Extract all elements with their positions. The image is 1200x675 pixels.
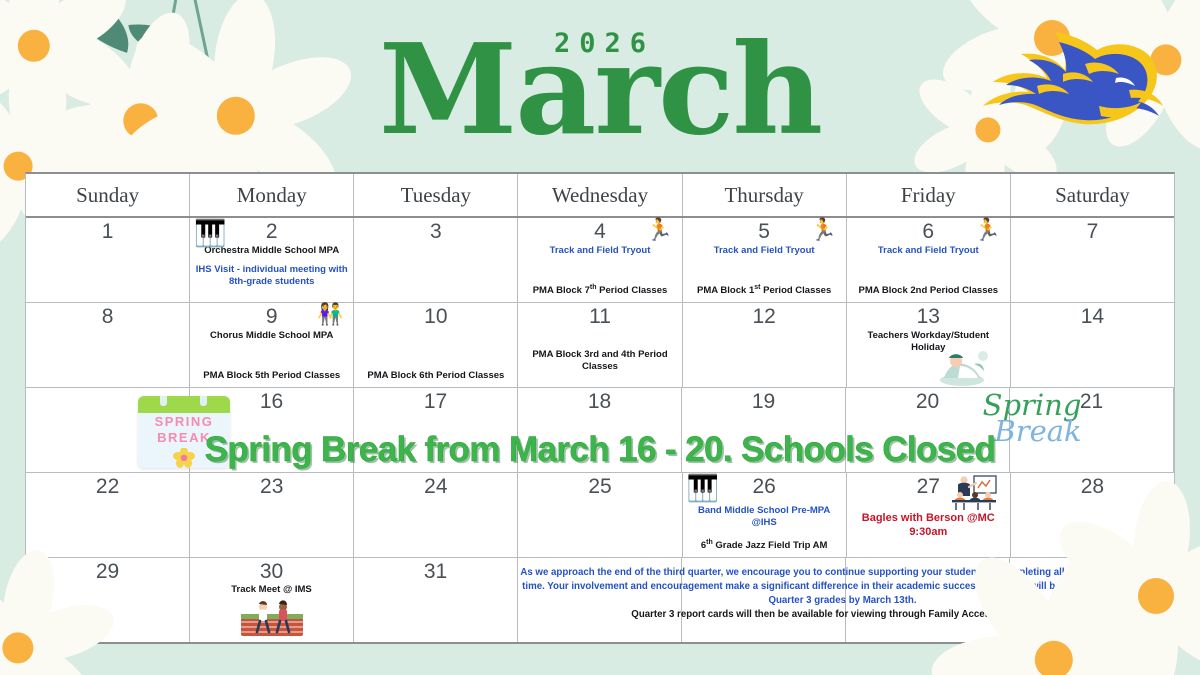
day-number: 2: [266, 221, 278, 243]
day-number: 29: [96, 561, 119, 583]
day-number: 24: [424, 476, 447, 498]
music-notes-icon: 🎹: [194, 220, 226, 246]
day-cell[interactable]: 1: [26, 218, 190, 302]
event-text-tail: Period Classes: [597, 285, 668, 296]
day-cell[interactable]: 25: [518, 473, 682, 557]
day-cell[interactable]: 28: [1011, 473, 1174, 557]
event-label: IHS Visit - individual meeting with 8th-…: [192, 264, 351, 288]
event-text-tail: Period Classes: [760, 285, 831, 296]
event-label: PMA Block 5th Period Classes: [190, 370, 353, 382]
dow-sunday: Sunday: [26, 174, 190, 216]
calendar-week-row: 8 👫 9 Chorus Middle School MPA PMA Block…: [26, 303, 1174, 388]
day-number: 11: [589, 306, 611, 328]
day-number: 1: [102, 221, 114, 243]
spring-break-card-line1: SPRING: [155, 415, 214, 430]
music-notes-icon: 🎹: [687, 475, 719, 501]
event-text-tail: Grade Jazz Field Trip AM: [713, 540, 828, 551]
day-cell[interactable]: 11 PMA Block 3rd and 4th Period Classes: [518, 303, 682, 387]
day-cell[interactable]: 🎹 2 Orchestra Middle School MPA IHS Visi…: [190, 218, 354, 302]
relaxing-person-icon: [934, 344, 988, 386]
calendar-week-row: 22 23 24 25 🎹 26 Band Middle School Pre-…: [26, 473, 1174, 558]
event-label: PMA Block 3rd and 4th Period Classes: [518, 349, 681, 373]
chorus-group-icon: 👫: [317, 304, 347, 334]
dow-wednesday: Wednesday: [518, 174, 682, 216]
day-cell[interactable]: 3: [354, 218, 518, 302]
day-number: 19: [752, 391, 775, 413]
runner-icon: 🏃: [810, 219, 840, 249]
event-label: PMA Block 7th Period Classes: [518, 284, 681, 297]
eagle-mascot-logo: [959, 18, 1174, 153]
day-cell[interactable]: 24: [354, 473, 518, 557]
day-number: 7: [1087, 221, 1099, 243]
day-cell[interactable]: 10 PMA Block 6th Period Classes: [354, 303, 518, 387]
day-cell[interactable]: 🏃 5 Track and Field Tryout PMA Block 1st…: [683, 218, 847, 302]
day-number: 25: [588, 476, 611, 498]
day-cell[interactable]: 14: [1011, 303, 1174, 387]
day-cell[interactable]: 8: [26, 303, 190, 387]
event-label: Track Meet @ IMS: [192, 584, 351, 596]
day-number: 13: [917, 306, 940, 328]
runner-icon: 🏃: [646, 219, 676, 249]
note-paragraph-blue: As we approach the end of the third quar…: [520, 567, 1164, 606]
day-number: 26: [752, 476, 775, 498]
day-number: 18: [588, 391, 611, 413]
calendar-week-row: 29 30 Track Meet @ IMS: [26, 558, 1174, 642]
event-label: PMA Block 2nd Period Classes: [847, 285, 1010, 297]
day-cell[interactable]: 27 Bagles with Berson @MC 9:30am: [847, 473, 1011, 557]
day-cell[interactable]: 23: [190, 473, 354, 557]
spring-break-banner: Spring Break from March 16 - 20. Schools…: [26, 430, 1174, 470]
day-number: 10: [424, 306, 447, 328]
note-paragraph-black: Quarter 3 report cards will then be avai…: [519, 608, 1166, 622]
day-of-week-header-row: Sunday Monday Tuesday Wednesday Thursday…: [26, 174, 1174, 218]
day-number: 20: [916, 391, 939, 413]
event-label: Band Middle School Pre-MPA @IHS: [685, 505, 844, 529]
day-number: 9: [266, 306, 278, 328]
day-number: 21: [1080, 391, 1103, 413]
day-number: 3: [430, 221, 442, 243]
day-cell[interactable]: 13 Teachers Workday/Student Holiday: [847, 303, 1011, 387]
ordinal-suffix: th: [706, 539, 713, 546]
day-cell[interactable]: 30 Track Meet @ IMS: [190, 558, 354, 642]
event-label: 6th Grade Jazz Field Trip AM: [683, 539, 846, 552]
calendar-grid: Sunday Monday Tuesday Wednesday Thursday…: [25, 172, 1175, 644]
track-runners-icon: [239, 598, 305, 638]
day-number: 14: [1081, 306, 1104, 328]
calendar-week-row-spring-break: 16 17 18 19 20 21 SPRING BREAK: [26, 388, 1174, 473]
day-number: 23: [260, 476, 283, 498]
day-number: 4: [594, 221, 606, 243]
day-number: 17: [424, 391, 447, 413]
dow-saturday: Saturday: [1011, 174, 1174, 216]
day-cell[interactable]: 22: [26, 473, 190, 557]
ordinal-suffix: th: [590, 284, 597, 291]
presentation-meeting-icon: [948, 474, 1000, 512]
day-number: 8: [102, 306, 114, 328]
day-cell[interactable]: 🎹 26 Band Middle School Pre-MPA @IHS 6th…: [683, 473, 847, 557]
day-number: 22: [96, 476, 119, 498]
day-number: 16: [260, 391, 283, 413]
day-cell[interactable]: 29: [26, 558, 190, 642]
day-number: 28: [1081, 476, 1104, 498]
dow-monday: Monday: [190, 174, 354, 216]
day-number: 27: [917, 476, 940, 498]
day-number: 12: [752, 306, 775, 328]
dow-tuesday: Tuesday: [354, 174, 518, 216]
dow-thursday: Thursday: [683, 174, 847, 216]
event-label: Bagles with Berson @MC 9:30am: [849, 512, 1008, 540]
event-label: PMA Block 1st Period Classes: [683, 284, 846, 297]
runner-icon: 🏃: [974, 219, 1004, 249]
day-cell[interactable]: 31: [354, 558, 518, 642]
event-text-base: PMA Block 1: [697, 285, 754, 296]
calendar-week-row: 1 🎹 2 Orchestra Middle School MPA IHS Vi…: [26, 218, 1174, 303]
dow-friday: Friday: [847, 174, 1011, 216]
day-cell[interactable]: 12: [683, 303, 847, 387]
day-cell[interactable]: 👫 9 Chorus Middle School MPA PMA Block 5…: [190, 303, 354, 387]
event-text-base: PMA Block 7: [533, 285, 590, 296]
day-number: 5: [758, 221, 770, 243]
day-cell[interactable]: 🏃 4 Track and Field Tryout PMA Block 7th…: [518, 218, 682, 302]
day-number: 30: [260, 561, 283, 583]
day-cell[interactable]: 7: [1011, 218, 1174, 302]
day-cell[interactable]: 🏃 6 Track and Field Tryout PMA Block 2nd…: [847, 218, 1011, 302]
quarter-end-note: As we approach the end of the third quar…: [519, 566, 1166, 622]
day-number: 6: [922, 221, 934, 243]
day-number: 31: [424, 561, 447, 583]
event-label: PMA Block 6th Period Classes: [354, 370, 517, 382]
